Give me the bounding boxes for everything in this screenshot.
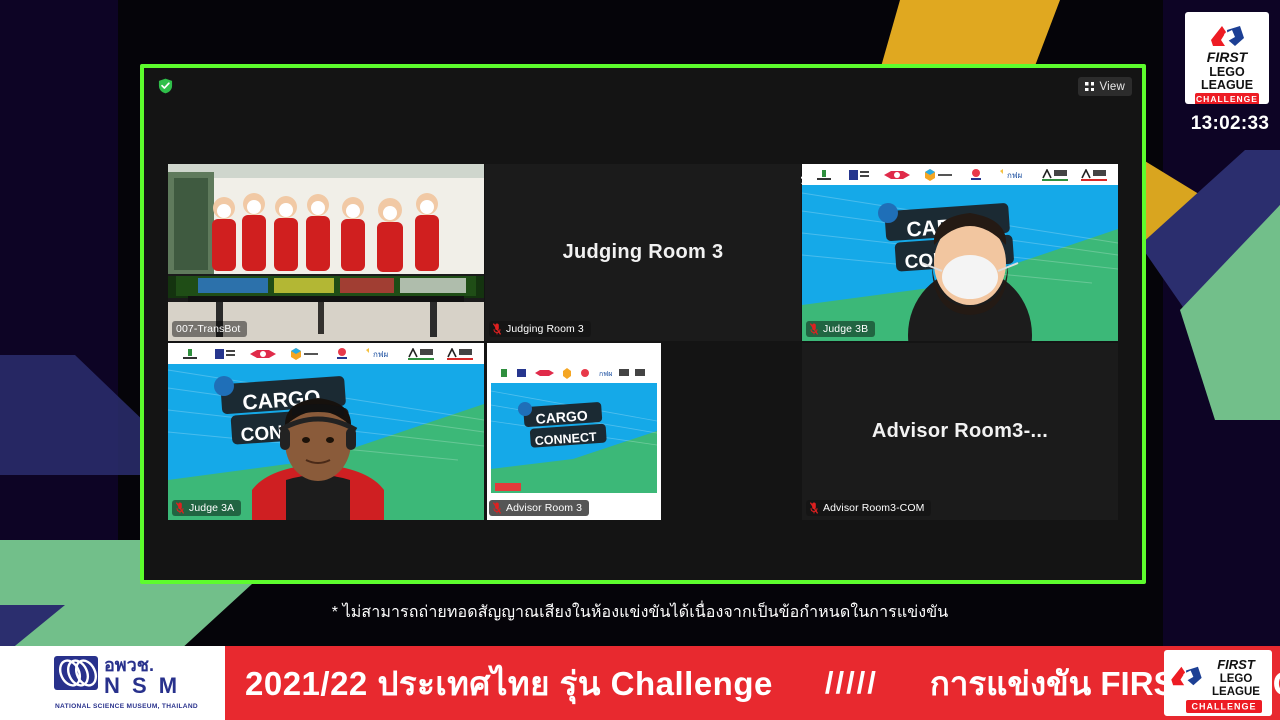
bottom-banner: อพวช. N S M NATIONAL SCIENCE MUSEUM, THA… (0, 646, 1280, 720)
sponsor-logo (214, 348, 236, 360)
participant-tile-judge-3a[interactable]: CARGO CONNECT (168, 343, 484, 520)
participant-name-tag: Advisor Room3-COM (806, 500, 931, 516)
participant-tile-judging-room-3[interactable]: Judging Room 3 Judging Room 3 (485, 164, 801, 341)
participant-name: Judge 3B (823, 323, 868, 335)
banner-separator: ///// (825, 665, 878, 701)
first-lego-league-logo-banner: FIRST LEGO LEAGUE CHALLENGE (1164, 650, 1272, 716)
nsm-thai-text: อพวช. (104, 655, 154, 675)
sponsor-logo (333, 348, 351, 360)
participant-name-tag: 007-TransBot (172, 321, 247, 337)
sponsor-logo: กฟผ (998, 169, 1028, 181)
svg-text:LEAGUE: LEAGUE (1201, 78, 1253, 92)
participant-tile-advisor-room3-com[interactable]: Advisor Room3-... Advisor Room3-COM (802, 343, 1118, 520)
sponsor-logo-bar: กฟผ (802, 164, 1118, 185)
banner-text-row: 2021/22 ประเทศไทย รุ่น Challenge ///// ก… (245, 646, 1280, 720)
view-button-label: View (1099, 81, 1125, 93)
sponsor-logo (1081, 169, 1107, 181)
sponsor-logo (967, 169, 985, 181)
svg-text:LEAGUE: LEAGUE (1212, 686, 1260, 698)
zoom-meeting-window: View (140, 64, 1146, 584)
broadcast-stage: View (0, 0, 1280, 720)
sponsor-logo (884, 169, 910, 181)
nsm-subtitle: NATIONAL SCIENCE MUSEUM, THAILAND (55, 703, 198, 710)
participant-tile-team[interactable]: 007-TransBot (168, 164, 484, 341)
svg-text:CHALLENGE: CHALLENGE (1196, 94, 1258, 104)
first-lego-league-logo: FIRST LEGO LEAGUE CHALLENGE (1185, 12, 1269, 104)
sponsor-logo (408, 348, 434, 360)
nsm-logo: อพวช. N S M NATIONAL SCIENCE MUSEUM, THA… (50, 652, 220, 714)
view-button[interactable]: View (1078, 77, 1132, 96)
microphone-muted-icon (810, 323, 818, 335)
cargo-connect-backdrop: CARGO CONNECT (168, 364, 484, 520)
microphone-muted-icon (810, 502, 818, 514)
participant-name-tag: Judging Room 3 (489, 321, 591, 337)
banner-title: 2021/22 ประเทศไทย รุ่น Challenge (245, 657, 773, 710)
sponsor-logo (813, 169, 835, 181)
microphone-muted-icon (493, 502, 501, 514)
participant-name: Judging Room 3 (506, 323, 584, 335)
sponsor-logo-bar: กฟผ (168, 343, 484, 364)
microphone-muted-icon (493, 323, 501, 335)
svg-text:CHALLENGE: CHALLENGE (1192, 702, 1257, 712)
microphone-muted-icon (176, 502, 184, 514)
participant-name: Advisor Room 3 (506, 502, 582, 514)
sponsor-logo (848, 169, 870, 181)
participant-name: Judge 3A (189, 502, 234, 514)
cargo-connect-backdrop: CARGO CONNECT (802, 185, 1118, 341)
sponsor-logo (250, 348, 276, 360)
participant-tile-judge-3b[interactable]: CARGO CONNECT (802, 164, 1118, 341)
svg-text:LEGO: LEGO (1209, 65, 1245, 79)
nsm-acronym: N S M (104, 673, 180, 698)
shield-encrypted-icon[interactable] (158, 78, 173, 94)
svg-text:กฟผ: กฟผ (373, 350, 389, 359)
participant-name-tag: Judge 3A (172, 500, 241, 516)
broadcast-footnote: * ไม่สามารถถ่ายทอดสัญญาณเสียงในห้องแข่งข… (0, 600, 1280, 625)
participant-name-tag: Advisor Room 3 (489, 500, 589, 516)
svg-text:กฟผ: กฟผ (599, 371, 612, 378)
sponsor-logo (179, 348, 201, 360)
sponsor-logo (1042, 169, 1068, 181)
participant-name: Advisor Room3-COM (823, 502, 924, 514)
sponsor-logo (447, 348, 473, 360)
participant-placeholder-name: Advisor Room3-... (802, 343, 1118, 520)
sponsor-logo (289, 348, 319, 360)
svg-text:กฟผ: กฟผ (1007, 171, 1023, 180)
svg-text:FIRST: FIRST (1207, 49, 1249, 65)
clock-readout: 13:02:33 (1186, 113, 1274, 135)
participant-name: 007-TransBot (176, 323, 240, 335)
sponsor-logo (923, 169, 953, 181)
participant-tile-grid: 007-TransBot Judging Room 3 Judgin (168, 164, 1118, 522)
svg-text:FIRST: FIRST (1217, 657, 1256, 672)
sponsor-logo: กฟผ (364, 348, 394, 360)
svg-text:LEGO: LEGO (1220, 673, 1253, 685)
shared-screen-content: กฟผ CARGO (487, 343, 661, 520)
participant-tile-advisor-room-3[interactable]: กฟผ CARGO (485, 343, 801, 520)
participant-placeholder-name: Judging Room 3 (485, 164, 801, 341)
grid-view-icon (1085, 82, 1094, 91)
participant-name-tag: Judge 3B (806, 321, 875, 337)
zoom-toolbar: View (144, 68, 1142, 106)
